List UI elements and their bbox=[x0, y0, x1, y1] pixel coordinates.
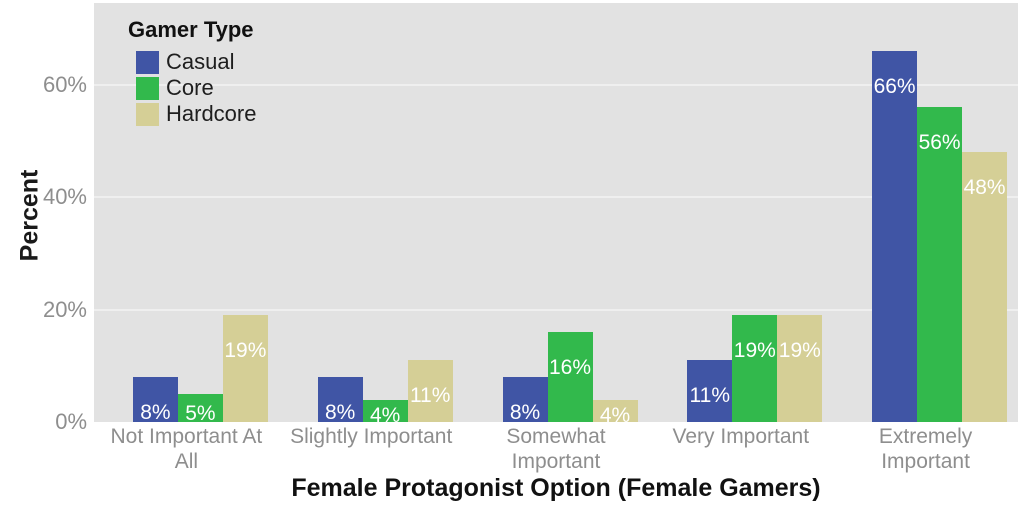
bar-value-label: 19% bbox=[732, 339, 777, 363]
x-axis-tick-label-line: Important bbox=[833, 449, 1018, 474]
legend-entry: Core bbox=[128, 75, 256, 101]
bar-value-label: 8% bbox=[318, 401, 363, 425]
bar: 5% bbox=[178, 394, 223, 422]
legend-label: Casual bbox=[166, 49, 234, 75]
x-axis-title: Female Protagonist Option (Female Gamers… bbox=[94, 474, 1018, 503]
x-axis-tick-label: ExtremelyImportant bbox=[833, 424, 1018, 474]
y-axis-tick-labels: 0%20%40%60% bbox=[0, 0, 94, 513]
bar-value-label: 16% bbox=[548, 356, 593, 380]
plot-area: 8%5%19%8%4%11%8%16%4%11%19%19%66%56%48% … bbox=[94, 3, 1018, 422]
legend-swatch bbox=[136, 77, 159, 100]
y-axis-tick-label: 40% bbox=[8, 184, 94, 210]
legend-entries: CasualCoreHardcore bbox=[128, 49, 256, 127]
legend-title: Gamer Type bbox=[128, 17, 256, 43]
x-axis-tick-label: Slightly Important bbox=[279, 424, 464, 449]
bar: 8% bbox=[133, 377, 178, 422]
x-axis-tick-label: Very Important bbox=[648, 424, 833, 449]
legend-entry: Casual bbox=[128, 49, 256, 75]
x-axis-tick-label-line: Very Important bbox=[648, 424, 833, 449]
bar-value-label: 11% bbox=[687, 384, 732, 408]
bar-value-label: 5% bbox=[178, 402, 223, 426]
x-axis-tick-label: Not Important AtAll bbox=[94, 424, 279, 474]
bar: 8% bbox=[503, 377, 548, 422]
legend-label: Hardcore bbox=[166, 101, 256, 127]
bar-value-label: 48% bbox=[962, 176, 1007, 200]
bar: 48% bbox=[962, 152, 1007, 422]
x-axis-tick-label-line: Important bbox=[464, 449, 649, 474]
legend: Gamer Type CasualCoreHardcore bbox=[128, 17, 256, 127]
bar-value-label: 56% bbox=[917, 131, 962, 155]
legend-swatch bbox=[136, 103, 159, 126]
x-axis-tick-label-line: Slightly Important bbox=[279, 424, 464, 449]
y-axis-tick-label: 60% bbox=[8, 72, 94, 98]
bar-value-label: 66% bbox=[872, 75, 917, 99]
y-axis-tick-label: 0% bbox=[8, 409, 94, 435]
bar: 4% bbox=[593, 400, 638, 422]
bar: 19% bbox=[732, 315, 777, 422]
legend-entry: Hardcore bbox=[128, 101, 256, 127]
bar: 11% bbox=[408, 360, 453, 422]
x-axis-tick-label-line: All bbox=[94, 449, 279, 474]
x-axis-tick-label-line: Not Important At bbox=[94, 424, 279, 449]
legend-label: Core bbox=[166, 75, 214, 101]
bar: 8% bbox=[318, 377, 363, 422]
x-axis-tick-label-line: Extremely bbox=[833, 424, 1018, 449]
bar-value-label: 11% bbox=[408, 384, 453, 408]
bar: 19% bbox=[223, 315, 268, 422]
bar-chart-figure: Percent 0%20%40%60% 8%5%19%8%4%11%8%16%4… bbox=[0, 0, 1024, 513]
x-axis-tick-labels: Not Important AtAllSlightly ImportantSom… bbox=[94, 424, 1018, 474]
y-axis-tick-label: 20% bbox=[8, 297, 94, 323]
x-axis-tick-label: SomewhatImportant bbox=[464, 424, 649, 474]
bar: 4% bbox=[363, 400, 408, 422]
legend-swatch bbox=[136, 51, 159, 74]
bar-value-label: 8% bbox=[503, 401, 548, 425]
bar: 11% bbox=[687, 360, 732, 422]
bar-value-label: 19% bbox=[223, 339, 268, 363]
bar-value-label: 8% bbox=[133, 401, 178, 425]
bar: 66% bbox=[872, 51, 917, 422]
x-axis-tick-label-line: Somewhat bbox=[464, 424, 649, 449]
bar: 19% bbox=[777, 315, 822, 422]
bar: 56% bbox=[917, 107, 962, 422]
bar: 16% bbox=[548, 332, 593, 422]
bar-value-label: 19% bbox=[777, 339, 822, 363]
